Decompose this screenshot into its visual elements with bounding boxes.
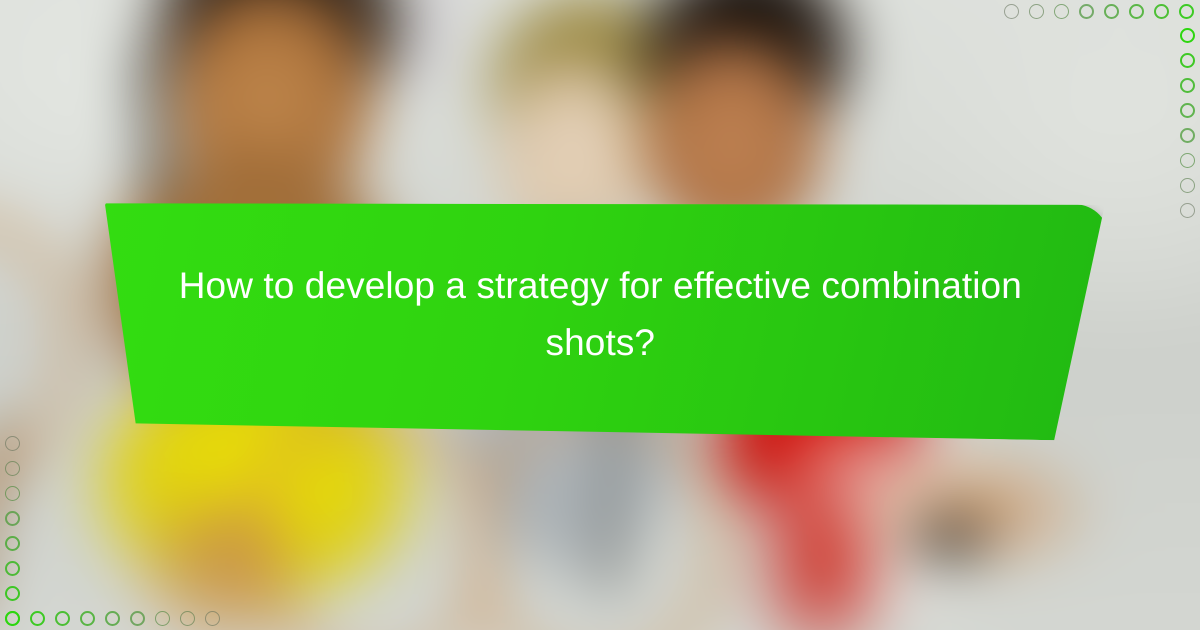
question-text: How to develop a strategy for effective … <box>166 258 1034 371</box>
racket-grip-dark <box>897 506 1003 574</box>
share-card-canvas: How to develop a strategy for effective … <box>0 0 1200 630</box>
question-banner: How to develop a strategy for effective … <box>90 189 1110 441</box>
question-banner-inner: How to develop a strategy for effective … <box>166 258 1034 371</box>
